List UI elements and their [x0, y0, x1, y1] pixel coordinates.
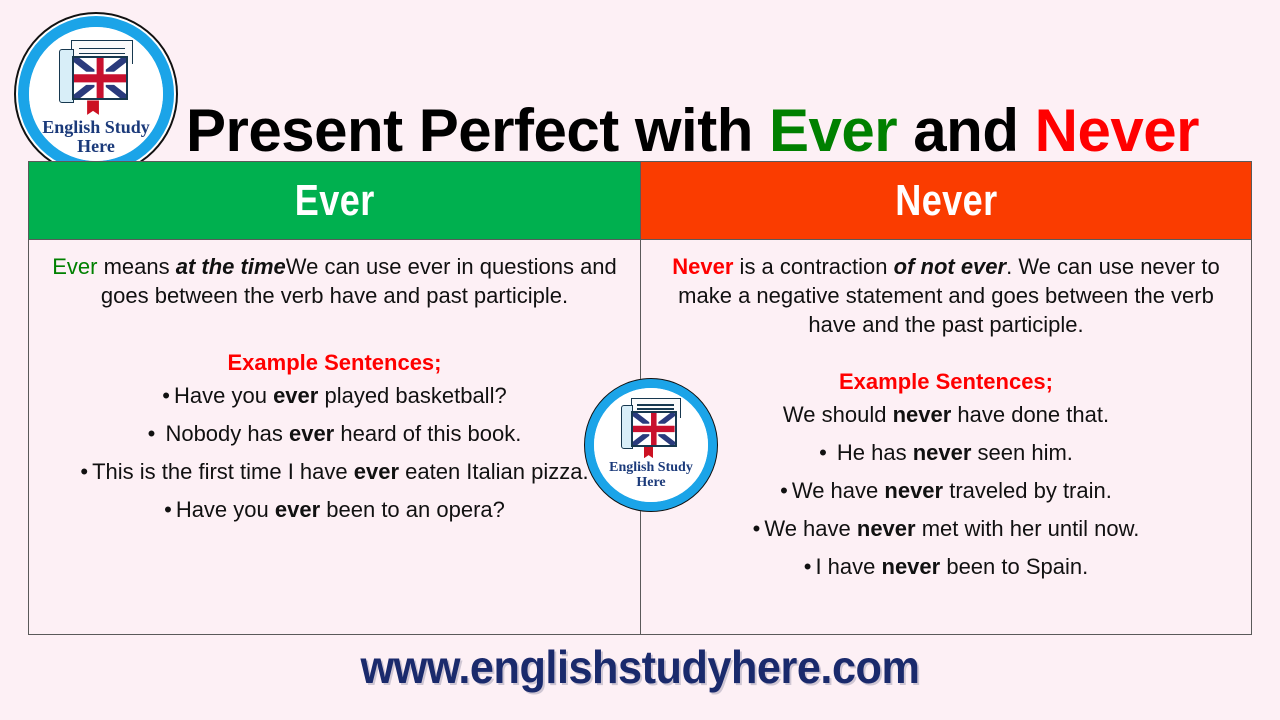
table-header-row: Ever Never: [29, 162, 1251, 240]
examples-heading-never: Example Sentences;: [651, 367, 1241, 396]
list-item: •We have never met with her until now.: [651, 510, 1241, 548]
bullet-icon: •: [804, 554, 812, 579]
table-header-never-label: Never: [895, 176, 997, 226]
logo-text: English Study Here: [609, 460, 693, 490]
example-after: heard of this book.: [334, 421, 521, 446]
logo-inner-circle: English Study Here: [29, 27, 163, 161]
definition-never-emphasis: of not ever: [894, 254, 1006, 279]
example-before: I have: [815, 554, 881, 579]
example-after: been to Spain.: [940, 554, 1088, 579]
example-before: We have: [764, 516, 857, 541]
example-after: seen him.: [971, 440, 1073, 465]
definition-ever-keyword: Ever: [52, 254, 97, 279]
logo-text-line1: English Study: [42, 118, 150, 137]
bullet-icon: •: [162, 383, 170, 408]
table-header-ever: Ever: [29, 162, 640, 240]
list-item: •I have never been to Spain.: [651, 548, 1241, 586]
example-after: traveled by train.: [943, 478, 1112, 503]
logo-text-line1: English Study: [609, 460, 693, 475]
page-title: Present Perfect with Ever and Never: [186, 98, 1276, 164]
example-keyword: never: [913, 440, 972, 465]
example-keyword: ever: [354, 459, 399, 484]
title-lead: Present Perfect with: [186, 97, 769, 164]
logo-badge-center: English Study Here: [584, 378, 718, 512]
footer-domain: englishstudyhere: [470, 641, 821, 693]
list-item: •We have never traveled by train.: [651, 472, 1241, 510]
example-keyword: never: [884, 478, 943, 503]
bookmark-icon: [644, 447, 654, 459]
table-header-never: Never: [640, 162, 1251, 240]
bullet-icon: •: [80, 459, 88, 484]
logo-text-line2: Here: [609, 475, 693, 490]
list-item: • He has never seen him.: [651, 434, 1241, 472]
list-item: • Nobody has ever heard of this book.: [39, 415, 630, 453]
example-after: eaten Italian pizza.: [399, 459, 589, 484]
example-before: He has: [831, 440, 913, 465]
book-icon: [621, 398, 681, 456]
title-keyword-never: Never: [1035, 97, 1199, 164]
example-after: played basketball?: [318, 383, 506, 408]
table-header-ever-label: Ever: [295, 176, 375, 226]
list-item: •Have you ever been to an opera?: [39, 491, 630, 529]
table-cell-ever: Ever means at the timeWe can use ever in…: [29, 240, 640, 634]
example-list-never: We should never have done that. • He has…: [651, 396, 1241, 586]
definition-never-keyword: Never: [672, 254, 733, 279]
example-before: We should: [783, 402, 893, 427]
bullet-icon: •: [753, 516, 761, 541]
example-before: Have you: [176, 497, 275, 522]
example-keyword: ever: [289, 421, 334, 446]
example-before: We have: [792, 478, 885, 503]
list-item: •Have you ever played basketball?: [39, 377, 630, 415]
uk-flag-icon: [72, 56, 128, 101]
list-item: •This is the first time I have ever eate…: [39, 453, 630, 491]
example-before: Have you: [174, 383, 273, 408]
footer-website-url[interactable]: www.englishstudyhere.com: [38, 640, 1241, 694]
definition-never-before: is a contraction: [733, 254, 893, 279]
bullet-icon: •: [819, 440, 827, 465]
footer-www: www: [360, 641, 458, 693]
definition-ever-emphasis: at the time: [176, 254, 286, 279]
bullet-icon: •: [148, 421, 156, 446]
definition-ever: Ever means at the timeWe can use ever in…: [43, 252, 626, 310]
example-before: This is the first time I have: [92, 459, 354, 484]
example-keyword: never: [893, 402, 952, 427]
definition-ever-before: means: [97, 254, 175, 279]
example-after: have done that.: [951, 402, 1109, 427]
bullet-icon: •: [164, 497, 172, 522]
bullet-icon: •: [780, 478, 788, 503]
title-row: English Study Here Present Perfect with …: [0, 0, 1280, 158]
logo-inner-circle: English Study Here: [594, 388, 708, 502]
example-keyword: never: [857, 516, 916, 541]
title-keyword-ever: Ever: [769, 97, 897, 164]
example-before: Nobody has: [159, 421, 289, 446]
footer-tld: .com: [820, 641, 919, 693]
definition-never: Never is a contraction of not ever. We c…: [655, 252, 1237, 339]
footer-dot: .: [458, 641, 470, 693]
table-cell-never: Never is a contraction of not ever. We c…: [640, 240, 1251, 634]
example-after: been to an opera?: [320, 497, 505, 522]
examples-heading-ever: Example Sentences;: [39, 348, 630, 377]
example-after: met with her until now.: [916, 516, 1140, 541]
logo-badge-main: English Study Here: [14, 12, 178, 176]
title-middle: and: [897, 97, 1035, 164]
example-keyword: ever: [273, 383, 318, 408]
book-icon: [59, 40, 133, 112]
example-keyword: never: [882, 554, 941, 579]
bookmark-icon: [87, 100, 99, 114]
example-list-ever: •Have you ever played basketball? • Nobo…: [39, 377, 630, 529]
example-keyword: ever: [275, 497, 320, 522]
uk-flag-icon: [631, 411, 677, 447]
list-item: We should never have done that.: [651, 396, 1241, 434]
